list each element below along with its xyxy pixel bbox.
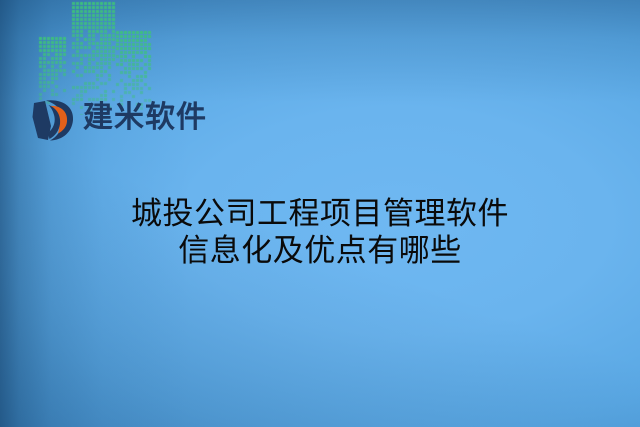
brand-logo-text: 建米软件	[83, 103, 207, 135]
page-title-line-1: 城投公司工程项目管理软件	[0, 196, 640, 233]
slide-canvas: 建米软件 城投公司工程项目管理软件 信息化及优点有哪些	[0, 0, 640, 427]
page-title: 城投公司工程项目管理软件 信息化及优点有哪些	[0, 196, 640, 270]
jianmi-chevron-logo-icon	[28, 94, 78, 144]
page-title-line-2: 信息化及优点有哪些	[0, 233, 640, 270]
brand-logo: 建米软件	[28, 94, 207, 144]
